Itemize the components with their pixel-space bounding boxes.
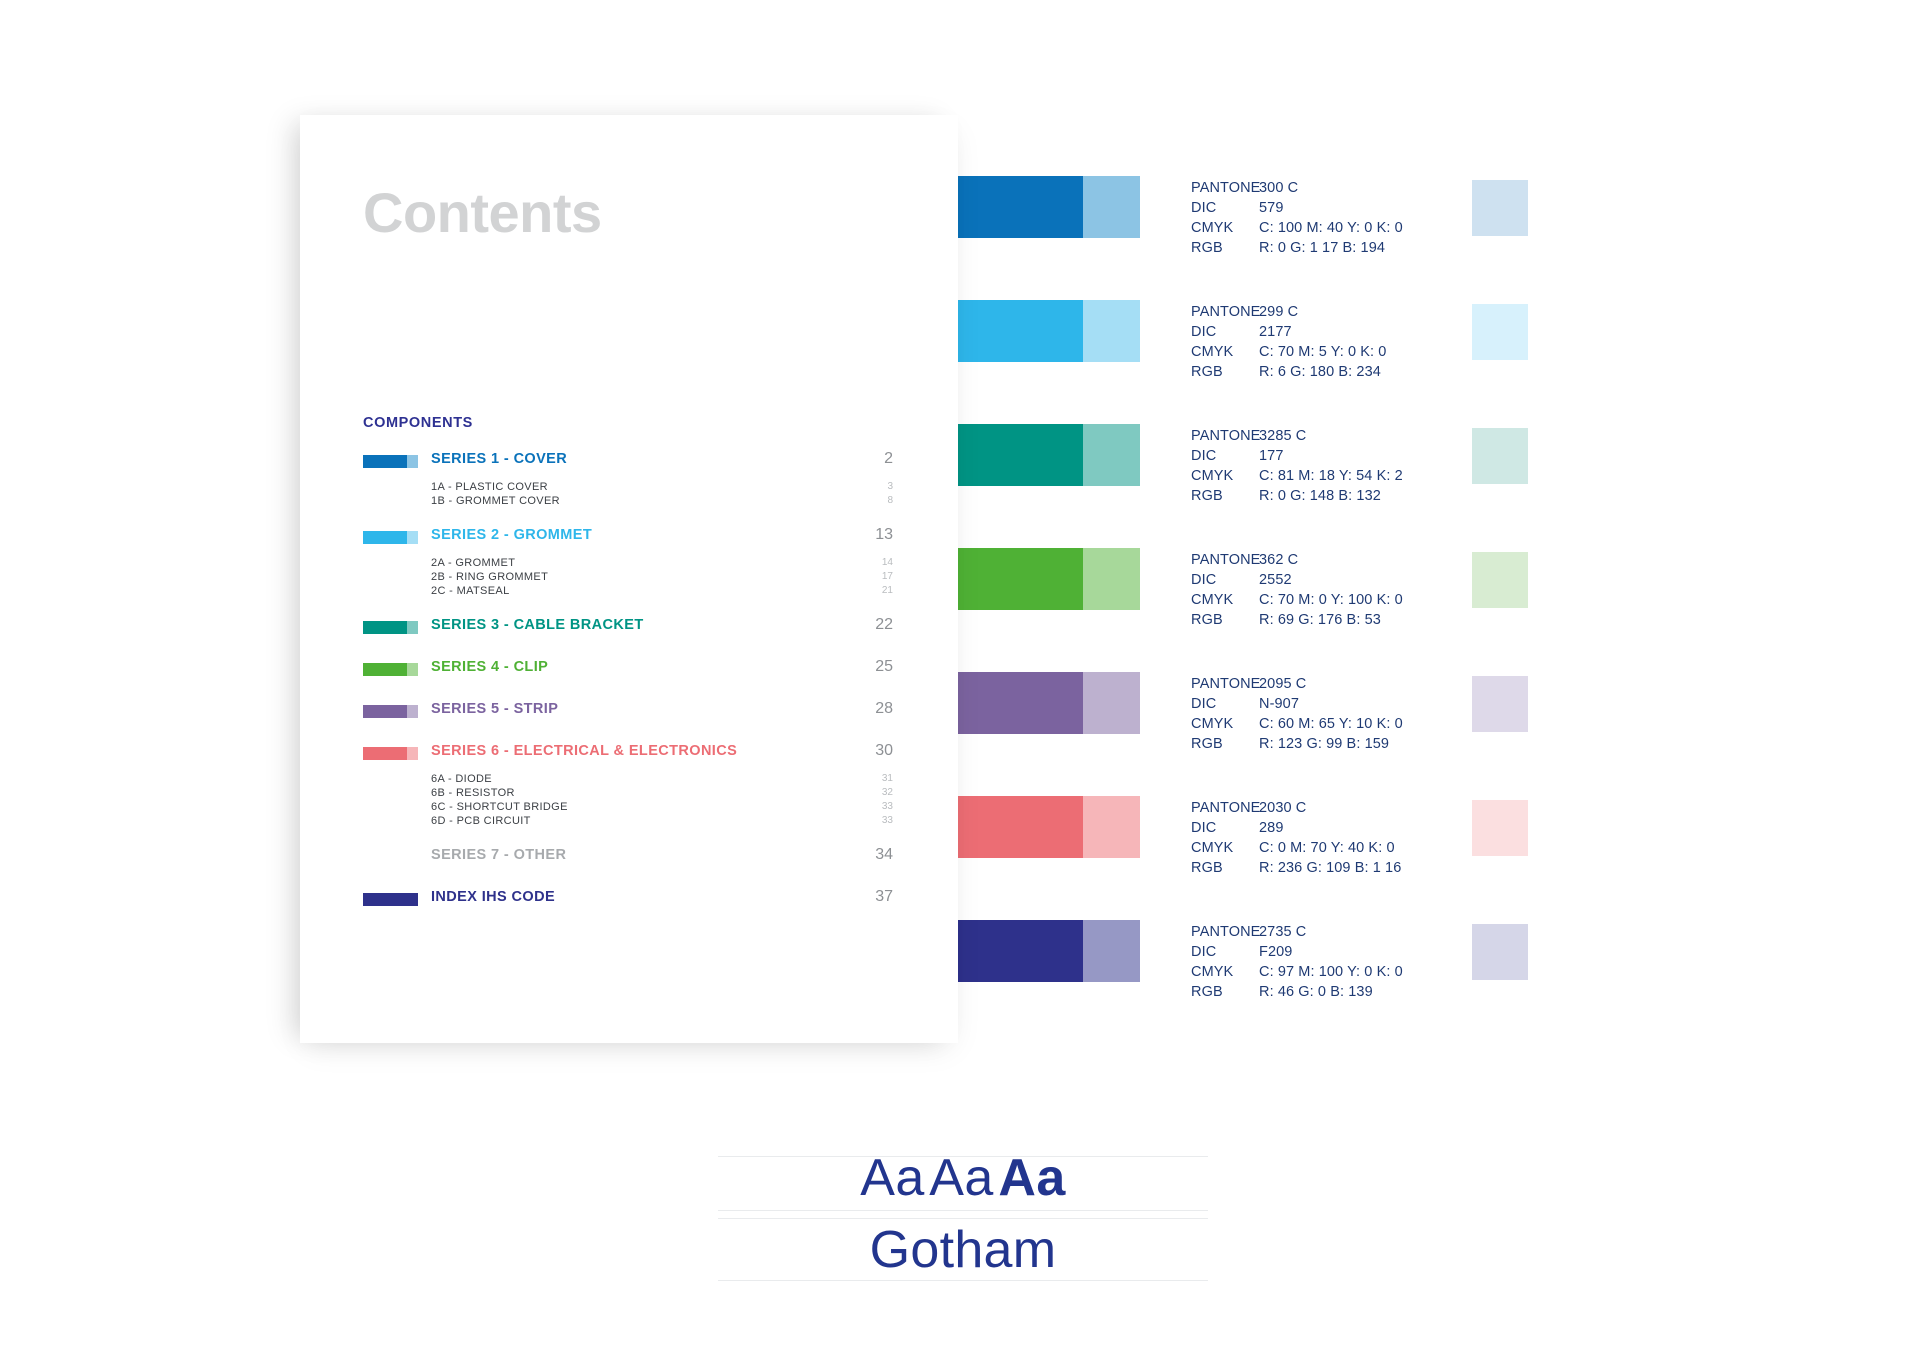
- toc-chip-main: [363, 621, 407, 634]
- color-spec-keys: PANTONEDICCMYKRGB: [1191, 798, 1259, 878]
- toc-entry-label: SERIES 4 - CLIP: [431, 659, 548, 675]
- color-spec-key: DIC: [1191, 570, 1259, 590]
- toc-spacer: [363, 875, 893, 889]
- toc-entry-label: SERIES 1 - COVER: [431, 451, 567, 467]
- guide-line: [718, 1280, 1208, 1281]
- toc-chip-tint: [407, 747, 418, 760]
- color-spec-values: 2735 CF209C: 97 M: 100 Y: 0 K: 0R: 46 G:…: [1259, 922, 1489, 1002]
- color-spec-key: RGB: [1191, 238, 1259, 258]
- color-spec: PANTONEDICCMYKRGB2735 CF209C: 97 M: 100 …: [1191, 922, 1489, 1002]
- color-spec-key: DIC: [1191, 322, 1259, 342]
- color-bar-tint: [1083, 920, 1140, 982]
- rgb-value: R: 236 G: 109 B: 1 16: [1259, 858, 1489, 878]
- toc-section-heading: COMPONENTS: [363, 415, 893, 431]
- color-spec-key: DIC: [1191, 694, 1259, 714]
- cmyk-value: C: 60 M: 65 Y: 10 K: 0: [1259, 714, 1489, 734]
- color-spec-key: CMYK: [1191, 714, 1259, 734]
- light-tint-swatch: [1472, 304, 1528, 360]
- dic-value: 289: [1259, 818, 1489, 838]
- toc-subentry-page-number: 31: [882, 773, 893, 784]
- typography-section: Aa Aa Aa Gotham: [718, 1148, 1208, 1296]
- color-spec: PANTONEDICCMYKRGB362 C2552C: 70 M: 0 Y: …: [1191, 550, 1489, 630]
- toc-entry[interactable]: SERIES 7 - OTHER34: [363, 847, 893, 869]
- toc-subentry-list: 2A - GROMMET142B - RING GROMMET172C - MA…: [363, 557, 893, 599]
- toc-color-chip: [363, 531, 418, 544]
- toc-subentry-page-number: 3: [887, 481, 893, 492]
- dic-value: 2552: [1259, 570, 1489, 590]
- toc-entry-page-number: 22: [875, 616, 893, 634]
- color-bar-tint: [1083, 300, 1140, 362]
- color-spec-key: DIC: [1191, 198, 1259, 218]
- pantone-value: 300 C: [1259, 178, 1489, 198]
- color-spec-key: RGB: [1191, 362, 1259, 382]
- table-of-contents: COMPONENTS SERIES 1 - COVER21A - PLASTIC…: [363, 415, 893, 931]
- cmyk-value: C: 70 M: 0 Y: 100 K: 0: [1259, 590, 1489, 610]
- dic-value: N-907: [1259, 694, 1489, 714]
- toc-subentry-label: 6B - RESISTOR: [431, 787, 515, 799]
- toc-entry-page-number: 28: [875, 700, 893, 718]
- toc-color-chip: [363, 893, 418, 906]
- dic-value: 2177: [1259, 322, 1489, 342]
- toc-chip-tint: [407, 893, 418, 906]
- toc-subentry[interactable]: 2B - RING GROMMET17: [363, 571, 893, 585]
- pantone-value: 2095 C: [1259, 674, 1489, 694]
- toc-subentry-label: 2C - MATSEAL: [431, 585, 510, 597]
- toc-subentry-page-number: 32: [882, 787, 893, 798]
- toc-entry[interactable]: SERIES 2 - GROMMET13: [363, 527, 893, 549]
- toc-chip-tint: [407, 531, 418, 544]
- toc-subentry-label: 6A - DIODE: [431, 773, 492, 785]
- color-spec-key: PANTONE: [1191, 302, 1259, 322]
- color-spec-key: PANTONE: [1191, 798, 1259, 818]
- toc-entry-label: INDEX IHS CODE: [431, 889, 555, 905]
- contents-card: Contents COMPONENTS SERIES 1 - COVER21A …: [300, 115, 958, 1043]
- color-spec-key: CMYK: [1191, 838, 1259, 858]
- toc-entry[interactable]: INDEX IHS CODE37: [363, 889, 893, 911]
- palette-row: PANTONEDICCMYKRGB299 C2177C: 70 M: 5 Y: …: [0, 300, 1920, 424]
- color-spec-key: CMYK: [1191, 342, 1259, 362]
- palette-row: PANTONEDICCMYKRGB362 C2552C: 70 M: 0 Y: …: [0, 548, 1920, 672]
- color-spec-keys: PANTONEDICCMYKRGB: [1191, 922, 1259, 1002]
- toc-subentry[interactable]: 6B - RESISTOR32: [363, 787, 893, 801]
- color-spec-key: PANTONE: [1191, 674, 1259, 694]
- toc-entry-page-number: 30: [875, 742, 893, 760]
- color-spec-key: RGB: [1191, 982, 1259, 1002]
- color-bar-tint: [1083, 672, 1140, 734]
- toc-subentry[interactable]: 2C - MATSEAL21: [363, 585, 893, 599]
- color-spec: PANTONEDICCMYKRGB2030 C289C: 0 M: 70 Y: …: [1191, 798, 1489, 878]
- toc-entry-page-number: 37: [875, 888, 893, 906]
- toc-subentry-page-number: 33: [882, 815, 893, 826]
- toc-entry-label: SERIES 3 - CABLE BRACKET: [431, 617, 644, 633]
- color-spec-key: CMYK: [1191, 590, 1259, 610]
- toc-entry-label: SERIES 5 - STRIP: [431, 701, 558, 717]
- toc-chip-main: [363, 663, 407, 676]
- toc-chip-main: [363, 705, 407, 718]
- toc-subentry-page-number: 14: [882, 557, 893, 568]
- pantone-value: 2735 C: [1259, 922, 1489, 942]
- color-spec-key: RGB: [1191, 858, 1259, 878]
- color-spec-values: 300 C579C: 100 M: 40 Y: 0 K: 0R: 0 G: 1 …: [1259, 178, 1489, 258]
- light-tint-swatch: [1472, 800, 1528, 856]
- toc-spacer: [363, 645, 893, 659]
- color-spec-key: DIC: [1191, 446, 1259, 466]
- rgb-value: R: 46 G: 0 B: 139: [1259, 982, 1489, 1002]
- guide-line: [718, 1218, 1208, 1219]
- font-family-name: Gotham: [718, 1220, 1208, 1280]
- palette-row: PANTONEDICCMYKRGB2030 C289C: 0 M: 70 Y: …: [0, 796, 1920, 920]
- palette-row: PANTONEDICCMYKRGB2095 CN-907C: 60 M: 65 …: [0, 672, 1920, 796]
- toc-spacer: [363, 917, 893, 931]
- light-tint-swatch: [1472, 552, 1528, 608]
- toc-subentry-label: 6D - PCB CIRCUIT: [431, 815, 531, 827]
- color-bar-tint: [1083, 424, 1140, 486]
- toc-entry-page-number: 13: [875, 526, 893, 544]
- toc-subentry[interactable]: 2A - GROMMET14: [363, 557, 893, 571]
- color-spec-key: CMYK: [1191, 218, 1259, 238]
- toc-entry-list: SERIES 1 - COVER21A - PLASTIC COVER31B -…: [363, 451, 893, 931]
- light-tint-swatch: [1472, 180, 1528, 236]
- rgb-value: R: 0 G: 1 17 B: 194: [1259, 238, 1489, 258]
- dic-value: F209: [1259, 942, 1489, 962]
- toc-entry[interactable]: SERIES 5 - STRIP28: [363, 701, 893, 723]
- light-tint-swatch: [1472, 676, 1528, 732]
- toc-color-chip: [363, 455, 418, 468]
- toc-subentry-list: 6A - DIODE316B - RESISTOR326C - SHORTCUT…: [363, 773, 893, 829]
- toc-chip-tint: [407, 663, 418, 676]
- color-spec: PANTONEDICCMYKRGB2095 CN-907C: 60 M: 65 …: [1191, 674, 1489, 754]
- light-tint-swatch: [1472, 428, 1528, 484]
- color-spec-key: CMYK: [1191, 962, 1259, 982]
- light-tint-swatch: [1472, 924, 1528, 980]
- cmyk-value: C: 97 M: 100 Y: 0 K: 0: [1259, 962, 1489, 982]
- color-spec-key: PANTONE: [1191, 426, 1259, 446]
- toc-entry-page-number: 34: [875, 846, 893, 864]
- toc-color-chip: [363, 621, 418, 634]
- toc-subentry-page-number: 21: [882, 585, 893, 596]
- color-spec-key: PANTONE: [1191, 922, 1259, 942]
- specimen-light: Aa: [860, 1149, 925, 1207]
- color-spec-values: 299 C2177C: 70 M: 5 Y: 0 K: 0R: 6 G: 180…: [1259, 302, 1489, 382]
- toc-entry-page-number: 25: [875, 658, 893, 676]
- color-spec-key: PANTONE: [1191, 550, 1259, 570]
- color-spec-keys: PANTONEDICCMYKRGB: [1191, 302, 1259, 382]
- color-spec-keys: PANTONEDICCMYKRGB: [1191, 550, 1259, 630]
- toc-subentry-page-number: 33: [882, 801, 893, 812]
- toc-color-chip: [363, 663, 418, 676]
- toc-entry-page-number: 2: [884, 450, 893, 468]
- cmyk-value: C: 0 M: 70 Y: 40 K: 0: [1259, 838, 1489, 858]
- color-spec-values: 362 C2552C: 70 M: 0 Y: 100 K: 0R: 69 G: …: [1259, 550, 1489, 630]
- color-spec-values: 3285 C177C: 81 M: 18 Y: 54 K: 2R: 0 G: 1…: [1259, 426, 1489, 506]
- pantone-value: 362 C: [1259, 550, 1489, 570]
- toc-subentry[interactable]: 6D - PCB CIRCUIT33: [363, 815, 893, 829]
- toc-subentry-list: 1A - PLASTIC COVER31B - GROMMET COVER8: [363, 481, 893, 509]
- palette-row: PANTONEDICCMYKRGB300 C579C: 100 M: 40 Y:…: [0, 176, 1920, 300]
- toc-subentry[interactable]: 1A - PLASTIC COVER3: [363, 481, 893, 495]
- toc-chip-main: [363, 455, 407, 468]
- toc-color-chip: [363, 747, 418, 760]
- rgb-value: R: 69 G: 176 B: 53: [1259, 610, 1489, 630]
- toc-entry[interactable]: SERIES 4 - CLIP25: [363, 659, 893, 681]
- toc-subentry-label: 2A - GROMMET: [431, 557, 515, 569]
- color-bar-tint: [1083, 176, 1140, 238]
- guide-line: [718, 1210, 1208, 1211]
- toc-chip-main: [363, 893, 407, 906]
- toc-entry-label: SERIES 6 - ELECTRICAL & ELECTRONICS: [431, 743, 737, 759]
- toc-entry[interactable]: SERIES 1 - COVER2: [363, 451, 893, 473]
- color-spec-keys: PANTONEDICCMYKRGB: [1191, 674, 1259, 754]
- toc-subentry-label: 1A - PLASTIC COVER: [431, 481, 548, 493]
- cmyk-value: C: 81 M: 18 Y: 54 K: 2: [1259, 466, 1489, 486]
- cmyk-value: C: 70 M: 5 Y: 0 K: 0: [1259, 342, 1489, 362]
- color-spec-keys: PANTONEDICCMYKRGB: [1191, 426, 1259, 506]
- page-title: Contents: [363, 180, 602, 245]
- rgb-value: R: 6 G: 180 B: 234: [1259, 362, 1489, 382]
- type-specimens: Aa Aa Aa: [718, 1148, 1208, 1208]
- toc-subentry-page-number: 8: [887, 495, 893, 506]
- pantone-value: 299 C: [1259, 302, 1489, 322]
- dic-value: 177: [1259, 446, 1489, 466]
- brand-guide-canvas: PANTONEDICCMYKRGB300 C579C: 100 M: 40 Y:…: [0, 0, 1920, 1363]
- toc-color-chip: [363, 705, 418, 718]
- toc-spacer: [363, 687, 893, 701]
- specimen-regular: Aa: [929, 1149, 994, 1207]
- toc-chip-tint: [407, 455, 418, 468]
- toc-entry[interactable]: SERIES 6 - ELECTRICAL & ELECTRONICS30: [363, 743, 893, 765]
- toc-subentry[interactable]: 6A - DIODE31: [363, 773, 893, 787]
- color-palette-section: PANTONEDICCMYKRGB300 C579C: 100 M: 40 Y:…: [0, 0, 1920, 1030]
- toc-subentry[interactable]: 1B - GROMMET COVER8: [363, 495, 893, 509]
- pantone-value: 3285 C: [1259, 426, 1489, 446]
- color-bar-tint: [1083, 548, 1140, 610]
- color-spec: PANTONEDICCMYKRGB3285 C177C: 81 M: 18 Y:…: [1191, 426, 1489, 506]
- toc-spacer: [363, 729, 893, 743]
- pantone-value: 2030 C: [1259, 798, 1489, 818]
- color-spec-key: RGB: [1191, 734, 1259, 754]
- color-spec-key: PANTONE: [1191, 178, 1259, 198]
- color-spec-key: RGB: [1191, 486, 1259, 506]
- dic-value: 579: [1259, 198, 1489, 218]
- toc-subentry-label: 6C - SHORTCUT BRIDGE: [431, 801, 568, 813]
- toc-entry[interactable]: SERIES 3 - CABLE BRACKET22: [363, 617, 893, 639]
- color-spec-values: 2095 CN-907C: 60 M: 65 Y: 10 K: 0R: 123 …: [1259, 674, 1489, 754]
- color-spec-values: 2030 C289C: 0 M: 70 Y: 40 K: 0R: 236 G: …: [1259, 798, 1489, 878]
- toc-subentry-label: 1B - GROMMET COVER: [431, 495, 560, 507]
- color-spec-key: CMYK: [1191, 466, 1259, 486]
- color-spec-key: RGB: [1191, 610, 1259, 630]
- rgb-value: R: 0 G: 148 B: 132: [1259, 486, 1489, 506]
- toc-chip-main: [363, 747, 407, 760]
- palette-row: PANTONEDICCMYKRGB2735 CF209C: 97 M: 100 …: [0, 920, 1920, 1044]
- color-spec: PANTONEDICCMYKRGB300 C579C: 100 M: 40 Y:…: [1191, 178, 1489, 258]
- color-spec-key: DIC: [1191, 818, 1259, 838]
- rgb-value: R: 123 G: 99 B: 159: [1259, 734, 1489, 754]
- toc-entry-label: SERIES 7 - OTHER: [431, 847, 566, 863]
- color-bar-tint: [1083, 796, 1140, 858]
- toc-subentry-page-number: 17: [882, 571, 893, 582]
- toc-entry-label: SERIES 2 - GROMMET: [431, 527, 592, 543]
- toc-chip-main: [363, 531, 407, 544]
- toc-chip-tint: [407, 705, 418, 718]
- palette-row: PANTONEDICCMYKRGB3285 C177C: 81 M: 18 Y:…: [0, 424, 1920, 548]
- toc-chip-tint: [407, 621, 418, 634]
- specimen-bold: Aa: [998, 1149, 1065, 1207]
- color-spec-keys: PANTONEDICCMYKRGB: [1191, 178, 1259, 258]
- color-spec: PANTONEDICCMYKRGB299 C2177C: 70 M: 5 Y: …: [1191, 302, 1489, 382]
- toc-subentry-label: 2B - RING GROMMET: [431, 571, 548, 583]
- cmyk-value: C: 100 M: 40 Y: 0 K: 0: [1259, 218, 1489, 238]
- color-spec-key: DIC: [1191, 942, 1259, 962]
- toc-subentry[interactable]: 6C - SHORTCUT BRIDGE33: [363, 801, 893, 815]
